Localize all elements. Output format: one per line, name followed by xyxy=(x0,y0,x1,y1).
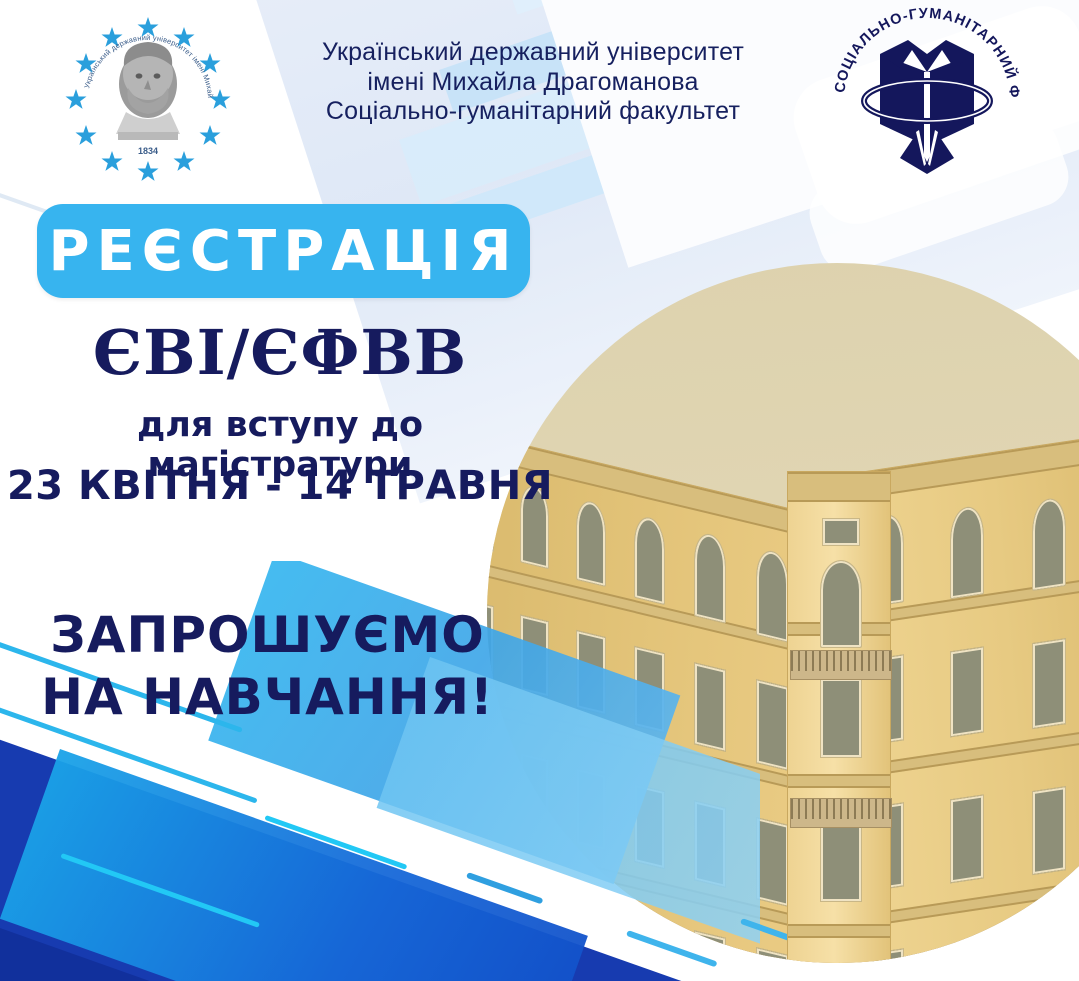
header-title-line-3: Соціально-гуманітарний факультет xyxy=(268,97,798,127)
invitation-line-2: НА НАВЧАННЯ! xyxy=(0,666,535,728)
university-emblem-icon: Український державний університет імені … xyxy=(62,14,234,182)
registration-badge-label: РЕЄСТРАЦІЯ xyxy=(49,219,519,284)
faculty-emblem-icon: СОЦІАЛЬНО-ГУМАНІТАРНИЙ ФАКУЛЬТЕТ xyxy=(820,6,1035,181)
poster-canvas: Український державний університет імені … xyxy=(0,0,1079,981)
svg-text:1834: 1834 xyxy=(138,146,158,156)
registration-badge: РЕЄСТРАЦІЯ xyxy=(37,204,530,298)
exam-title: ЄВІ/ЄФВВ xyxy=(0,316,560,389)
poster-header: Український державний університет імені … xyxy=(0,0,1079,180)
header-title-line-1: Український державний університет xyxy=(268,38,798,68)
invitation-line-1: ЗАПРОШУЄМО xyxy=(0,604,535,666)
building-corner xyxy=(787,471,891,963)
invitation-text: ЗАПРОШУЄМО НА НАВЧАННЯ! xyxy=(0,604,535,728)
registration-dates: 23 КВІТНЯ - 14 ТРАВНЯ xyxy=(0,463,560,509)
header-title-line-2: імені Михайла Драгоманова xyxy=(268,68,798,98)
header-title: Український державний університет імені … xyxy=(268,38,798,127)
